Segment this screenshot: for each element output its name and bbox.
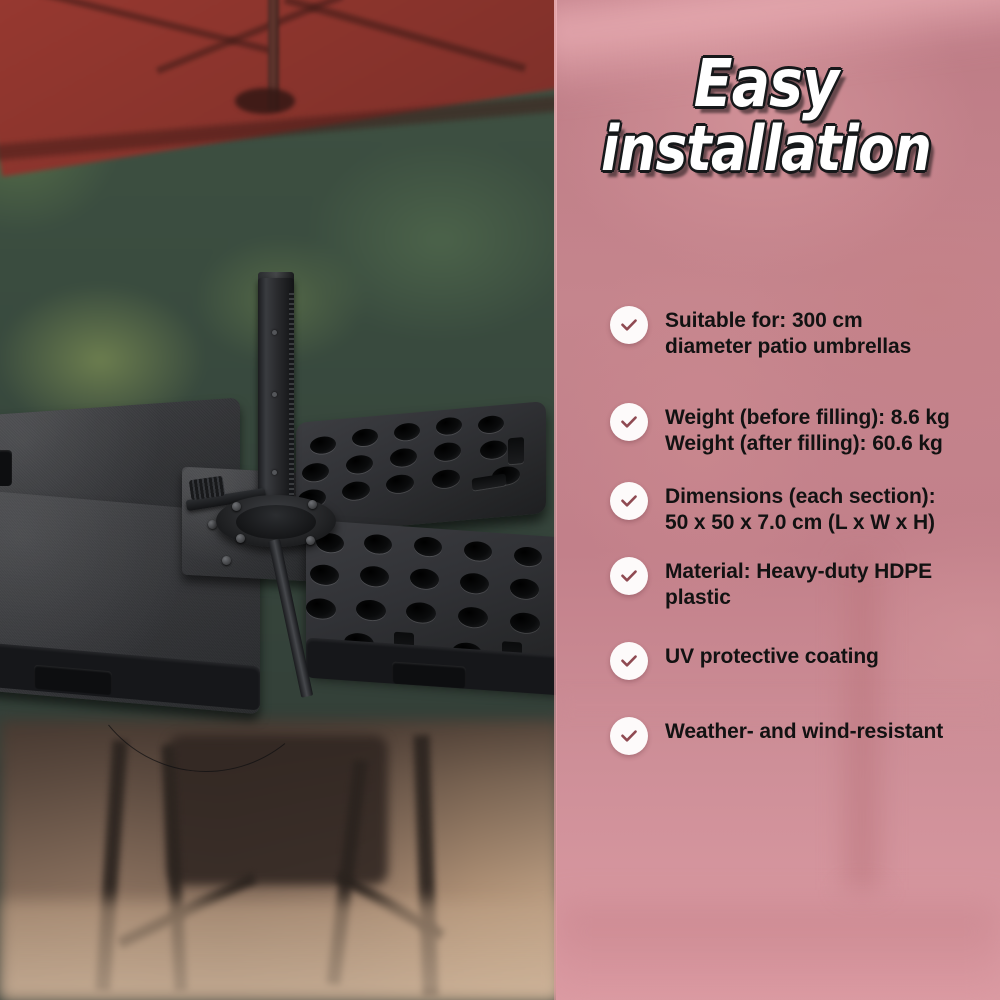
post-screw: [272, 470, 277, 475]
fill-dimple: [436, 416, 462, 435]
feature-text: Weather- and wind-resistant: [665, 715, 943, 745]
fill-dimple: [310, 564, 339, 586]
fill-dimple: [390, 447, 417, 467]
product-photo: [0, 0, 556, 1000]
fill-dimple: [306, 598, 336, 620]
fill-dimple: [364, 534, 392, 555]
fill-dimple: [360, 565, 389, 587]
mounting-post-rack: [289, 290, 294, 508]
fill-dimple: [514, 546, 542, 567]
fill-dimple: [302, 462, 329, 482]
bracket-bolt: [222, 556, 231, 565]
fill-dimple: [352, 428, 378, 447]
feature-text: Material: Heavy-duty HDPE plastic: [665, 555, 932, 612]
check-circle-icon: [610, 642, 648, 680]
feature-item-weight: Weight (before filling): 8.6 kg Weight (…: [610, 401, 990, 458]
post-screw: [272, 392, 277, 397]
feature-text: Suitable for: 300 cm diameter patio umbr…: [665, 304, 911, 361]
fill-dimple: [414, 536, 442, 557]
fill-dimple: [510, 578, 539, 600]
hub-bolt: [236, 534, 245, 543]
fill-dimple: [410, 568, 439, 590]
fill-dimple: [406, 602, 436, 624]
fill-dimple: [346, 454, 373, 474]
background-floor-blur: [556, 905, 1000, 1000]
fill-dimple: [342, 480, 370, 500]
hub-bolt: [306, 536, 315, 545]
base-plate-handle: [392, 661, 466, 688]
fill-dimple: [510, 612, 540, 634]
fill-dimple: [386, 474, 414, 494]
fill-dimple: [478, 415, 504, 434]
infographic-canvas: Easy installation Suitable for: 300 cm d…: [0, 0, 1000, 1000]
umbrella-base-assembly: [0, 0, 556, 1000]
hub-bolt: [232, 502, 241, 511]
fill-dimple: [394, 422, 420, 441]
fill-slot: [472, 473, 507, 490]
fill-dimple: [464, 541, 492, 562]
base-plate-side-clip: [0, 450, 12, 486]
feature-text: Dimensions (each section): 50 x 50 x 7.0…: [665, 480, 935, 537]
hub-bolt: [308, 500, 317, 509]
fill-slot: [508, 437, 524, 464]
fill-dimple: [432, 469, 460, 489]
fill-dimple: [310, 435, 336, 454]
fill-dimple: [434, 442, 461, 462]
check-circle-icon: [610, 403, 648, 441]
post-screw: [272, 330, 277, 335]
fill-dimple: [458, 606, 488, 628]
feature-list: Suitable for: 300 cm diameter patio umbr…: [610, 304, 990, 761]
check-circle-icon: [610, 306, 648, 344]
panel-divider: [554, 0, 557, 1000]
feature-item-uv-coating: UV protective coating: [610, 640, 990, 686]
check-circle-icon: [610, 717, 648, 755]
post-hub-ring: [236, 505, 316, 539]
fill-dimple: [460, 572, 489, 594]
check-circle-icon: [610, 482, 648, 520]
feature-text: UV protective coating: [665, 640, 879, 670]
feature-text: Weight (before filling): 8.6 kg Weight (…: [665, 401, 950, 458]
feature-item-weather-resistant: Weather- and wind-resistant: [610, 715, 990, 761]
check-circle-icon: [610, 557, 648, 595]
feature-item-dimensions: Dimensions (each section): 50 x 50 x 7.0…: [610, 480, 990, 537]
feature-item-suitable-for: Suitable for: 300 cm diameter patio umbr…: [610, 304, 990, 361]
fill-dimple: [356, 599, 386, 621]
fill-dimple: [480, 439, 507, 459]
feature-item-material: Material: Heavy-duty HDPE plastic: [610, 555, 990, 612]
